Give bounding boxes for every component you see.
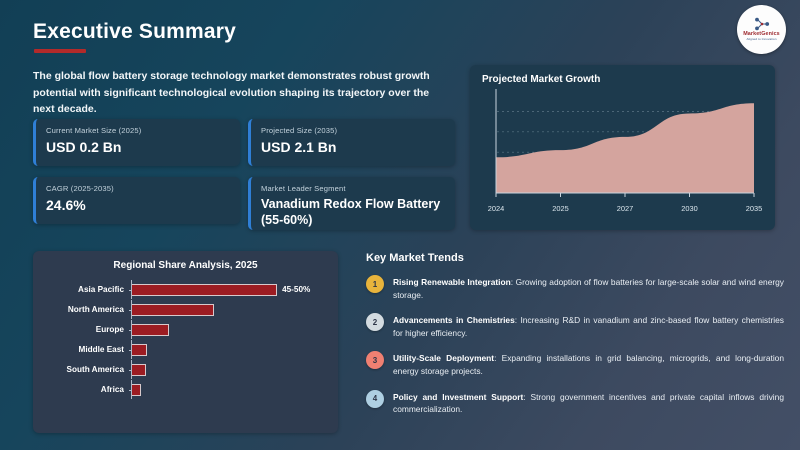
bar-chart-rows: Asia Pacific45-50%North AmericaEuropeMid… [43,280,328,399]
bar-fill [132,304,214,316]
trend-item: 3Utility-Scale Deployment: Expanding ins… [366,351,784,377]
bar-fill [132,364,146,376]
trend-item: 1Rising Renewable Integration: Growing a… [366,275,784,301]
kpi-value: USD 2.1 Bn [261,139,445,157]
chart-title-regional: Regional Share Analysis, 2025 [43,260,328,271]
trend-title: Utility-Scale Deployment [393,353,494,363]
trend-item: 4Policy and Investment Support: Strong g… [366,390,784,416]
bar-chart-row: Asia Pacific45-50% [45,280,328,299]
x-axis-label: 2024 [488,204,504,213]
trend-title: Advancements in Chemistries [393,315,515,325]
intro-paragraph: The global flow battery storage technolo… [33,68,438,118]
bar-chart-row: South America [45,360,328,379]
kpi-value: Vanadium Redox Flow Battery (55-60%) [261,197,445,228]
area-chart-svg [482,89,763,201]
area-chart-plot [482,89,763,201]
x-axis-label: 2025 [552,204,568,213]
bar-track: 45-50% [131,280,328,299]
bar-track [131,300,328,319]
title-accent-rule [34,49,86,53]
kpi-value: 24.6% [46,197,230,215]
bar-fill [132,384,141,396]
trend-title: Policy and Investment Support [393,392,523,402]
bar-fill [132,344,147,356]
bar-category-label: South America [45,365,131,374]
trend-number-badge: 4 [366,390,384,408]
kpi-label: Market Leader Segment [261,184,445,193]
bar-category-label: Europe [45,325,131,334]
chart-title-growth: Projected Market Growth [482,74,763,85]
bar-category-label: Asia Pacific [45,285,131,294]
trend-description: Policy and Investment Support: Strong go… [393,390,784,416]
trend-number-badge: 2 [366,313,384,331]
bar-track [131,360,328,379]
trends-list: 1Rising Renewable Integration: Growing a… [366,275,784,416]
x-axis-label: 2035 [746,204,762,213]
brand-logo: MarketGenics Aligned to Innovation [737,5,786,54]
kpi-card-cagr: CAGR (2025-2035) 24.6% [33,177,240,224]
trend-number-badge: 3 [366,351,384,369]
kpi-label: Current Market Size (2025) [46,126,230,135]
x-axis-ticks [496,193,754,197]
trend-description: Utility-Scale Deployment: Expanding inst… [393,351,784,377]
bar-data-label: 45-50% [282,285,310,294]
bar-category-label: Africa [45,385,131,394]
slide-canvas: Executive Summary MarketGenics Aligned t… [0,0,800,450]
bar-chart-row: North America [45,300,328,319]
key-market-trends: Key Market Trends 1Rising Renewable Inte… [366,252,784,428]
trend-description: Rising Renewable Integration: Growing ad… [393,275,784,301]
bar-fill [132,324,169,336]
bar-chart-row: Europe [45,320,328,339]
page-title: Executive Summary [33,20,236,44]
trends-heading: Key Market Trends [366,252,784,264]
bar-track [131,320,328,339]
bar-chart-row: Middle East [45,340,328,359]
trend-item: 2Advancements in Chemistries: Increasing… [366,313,784,339]
kpi-card-projected-size: Projected Size (2035) USD 2.1 Bn [248,119,455,166]
kpi-value: USD 0.2 Bn [46,139,230,157]
bar-category-label: North America [45,305,131,314]
bar-category-label: Middle East [45,345,131,354]
bar-track [131,380,328,399]
kpi-label: CAGR (2025-2035) [46,184,230,193]
bar-track [131,340,328,359]
logo-tagline: Aligned to Innovation [747,38,777,41]
kpi-card-current-market-size: Current Market Size (2025) USD 0.2 Bn [33,119,240,166]
x-axis-label: 2027 [617,204,633,213]
network-node-icon [753,17,770,31]
regional-share-panel: Regional Share Analysis, 2025 Asia Pacif… [33,251,338,433]
trend-number-badge: 1 [366,275,384,293]
projected-market-growth-panel: Projected Market Growth 2024202520272030… [470,65,775,230]
kpi-card-market-leader-segment: Market Leader Segment Vanadium Redox Flo… [248,177,455,230]
x-axis-label: 2030 [681,204,697,213]
bar-chart-row: Africa [45,380,328,399]
trend-description: Advancements in Chemistries: Increasing … [393,313,784,339]
bar-fill [132,284,277,296]
x-axis-labels: 20242025202720302035 [482,202,763,216]
kpi-label: Projected Size (2035) [261,126,445,135]
area-series-fill [496,103,754,193]
trend-title: Rising Renewable Integration [393,277,511,287]
